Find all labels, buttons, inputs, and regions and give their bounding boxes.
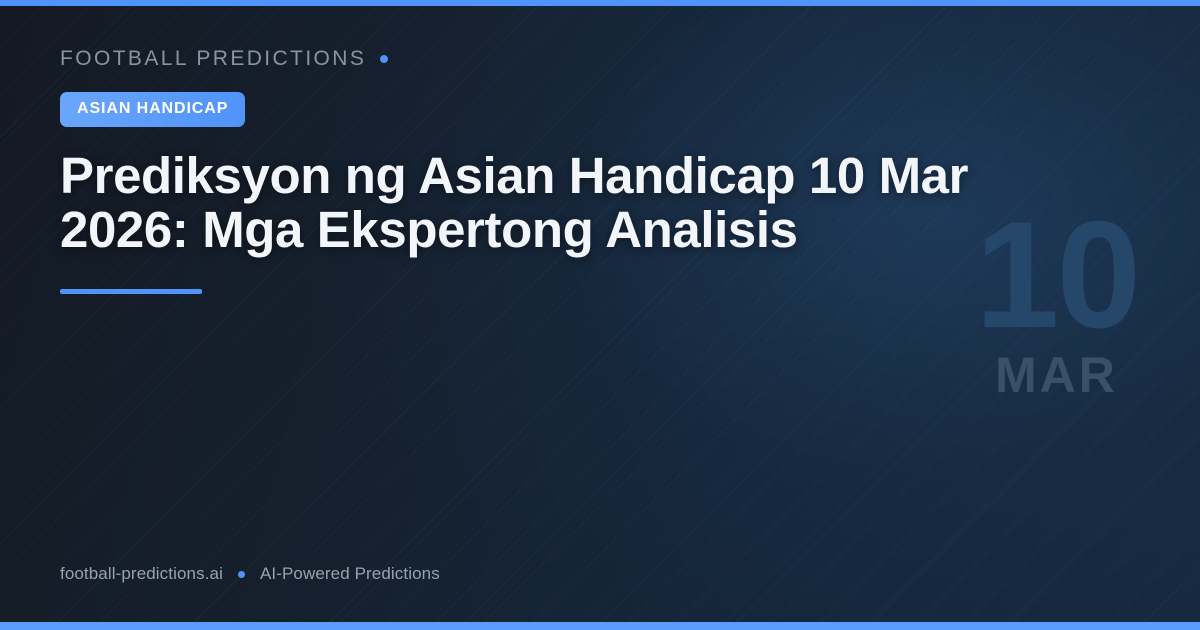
site-url: football-predictions.ai: [60, 564, 223, 584]
card-footer: football-predictions.ai AI-Powered Predi…: [60, 564, 440, 584]
page-title: Prediksyon ng Asian Handicap 10 Mar 2026…: [60, 149, 1060, 257]
blue-dot-icon: [238, 571, 245, 578]
eyebrow-label: FOOTBALL PREDICTIONS: [60, 47, 366, 71]
status-badge[interactable]: ASIAN HANDICAP: [60, 92, 245, 127]
top-accent-bar: [0, 0, 1200, 6]
date-month: MAR: [975, 350, 1138, 400]
card-content: FOOTBALL PREDICTIONS ASIAN HANDICAP Pred…: [60, 44, 1040, 294]
title-accent-underline: [60, 289, 202, 294]
footer-tagline: AI-Powered Predictions: [260, 564, 440, 584]
social-share-card: 10 MAR FOOTBALL PREDICTIONS ASIAN HANDIC…: [0, 0, 1200, 630]
bottom-accent-bar: [0, 622, 1200, 630]
blue-dot-icon: [380, 55, 388, 63]
breadcrumb: FOOTBALL PREDICTIONS: [60, 44, 1040, 74]
